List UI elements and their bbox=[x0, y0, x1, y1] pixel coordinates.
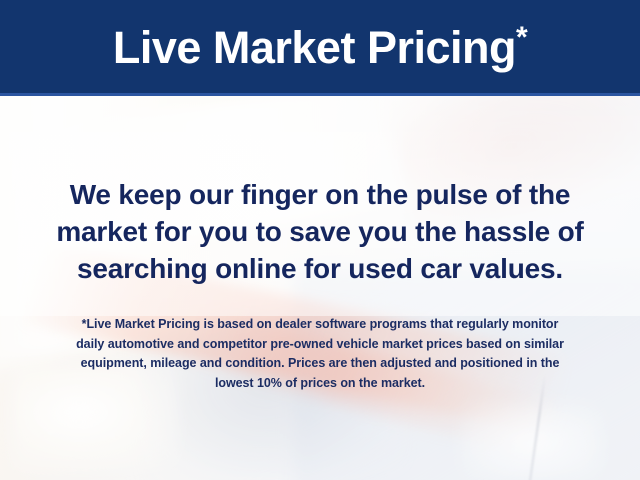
content-area: We keep our finger on the pulse of the m… bbox=[0, 96, 640, 480]
disclaimer-line-4: lowest 10% of prices on the market. bbox=[18, 374, 622, 394]
disclaimer-line-3: equipment, mileage and condition. Prices… bbox=[18, 354, 622, 374]
disclaimer-line-2: daily automotive and competitor pre-owne… bbox=[18, 335, 622, 355]
page-title-text: Live Market Pricing bbox=[113, 22, 516, 73]
disclaimer-line-1: *Live Market Pricing is based on dealer … bbox=[18, 315, 622, 335]
page-title-asterisk: * bbox=[516, 21, 527, 54]
disclaimer-block: *Live Market Pricing is based on dealer … bbox=[0, 315, 640, 393]
headline-block: We keep our finger on the pulse of the m… bbox=[0, 176, 640, 287]
header-banner: Live Market Pricing* bbox=[0, 0, 640, 96]
headline-line-2: market for you to save you the hassle of bbox=[24, 213, 616, 250]
headline-line-1: We keep our finger on the pulse of the bbox=[24, 176, 616, 213]
page-title: Live Market Pricing* bbox=[113, 25, 527, 72]
headline-line-3: searching online for used car values. bbox=[24, 250, 616, 287]
live-market-pricing-banner: Live Market Pricing* We keep our finger … bbox=[0, 0, 640, 480]
